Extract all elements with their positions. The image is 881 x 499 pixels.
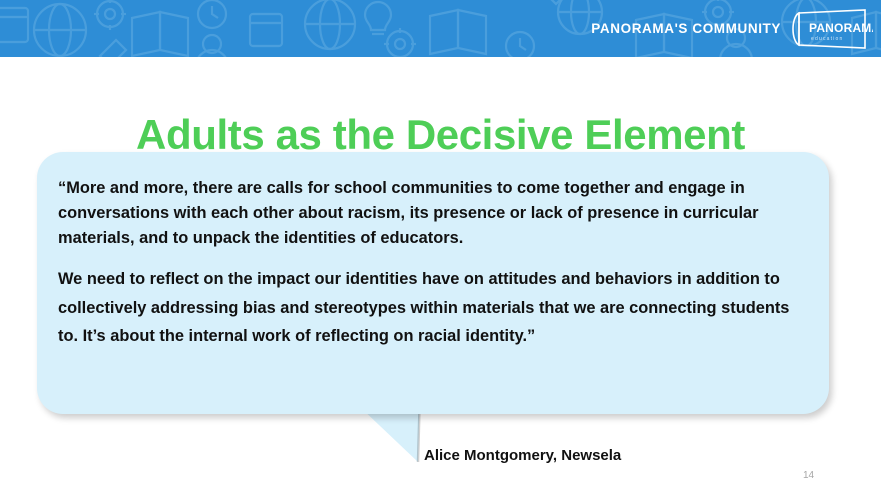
person-icon [196, 35, 228, 57]
quote-bubble-body: “More and more, there are calls for scho… [37, 152, 829, 414]
gear-icon [94, 0, 126, 30]
header-band: PANORAMA'S COMMUNITY PANORAMA education [0, 0, 881, 57]
globe-icon [34, 4, 86, 56]
panorama-logo: PANORAMA education [785, 8, 873, 50]
quote-p2-segment-4: of reflecting on racial identity.” [291, 327, 536, 345]
calendar-icon [0, 8, 28, 42]
globe-icon [305, 0, 355, 49]
quote-paragraph-2: We need to reflect on the impact our ide… [58, 265, 810, 351]
quote-paragraph-1: “More and more, there are calls for scho… [58, 176, 810, 251]
clock-icon [198, 0, 226, 28]
quote-p1-segment-0: “More and more, there are calls for scho… [58, 179, 759, 247]
open-book-icon [132, 12, 188, 56]
lightbulb-icon [365, 2, 391, 34]
calendar-icon [250, 14, 282, 46]
slide-page-number: 14 [803, 471, 814, 481]
quote-p2-emphasis-internal-work: internal work [189, 327, 291, 345]
gear-icon [384, 28, 416, 57]
pencil-icon [100, 40, 126, 57]
slide-canvas: PANORAMA'S COMMUNITY PANORAMA education … [0, 0, 881, 499]
panorama-logo-subtitle: education [811, 36, 844, 42]
header-eyebrow-text: PANORAMA'S COMMUNITY [591, 22, 781, 36]
quote-text-container: “More and more, there are calls for scho… [58, 176, 810, 351]
clock-icon [506, 32, 534, 57]
panorama-logo-wordmark: PANORAMA [809, 21, 873, 35]
quote-speech-bubble: “More and more, there are calls for scho… [37, 152, 829, 414]
quote-attribution: Alice Montgomery, Newsela [424, 447, 621, 465]
quote-p2-segment-0: We need to reflect on the [58, 270, 257, 288]
open-book-icon [430, 10, 486, 54]
quote-p2-emphasis-identities: impact our identities [257, 270, 417, 288]
